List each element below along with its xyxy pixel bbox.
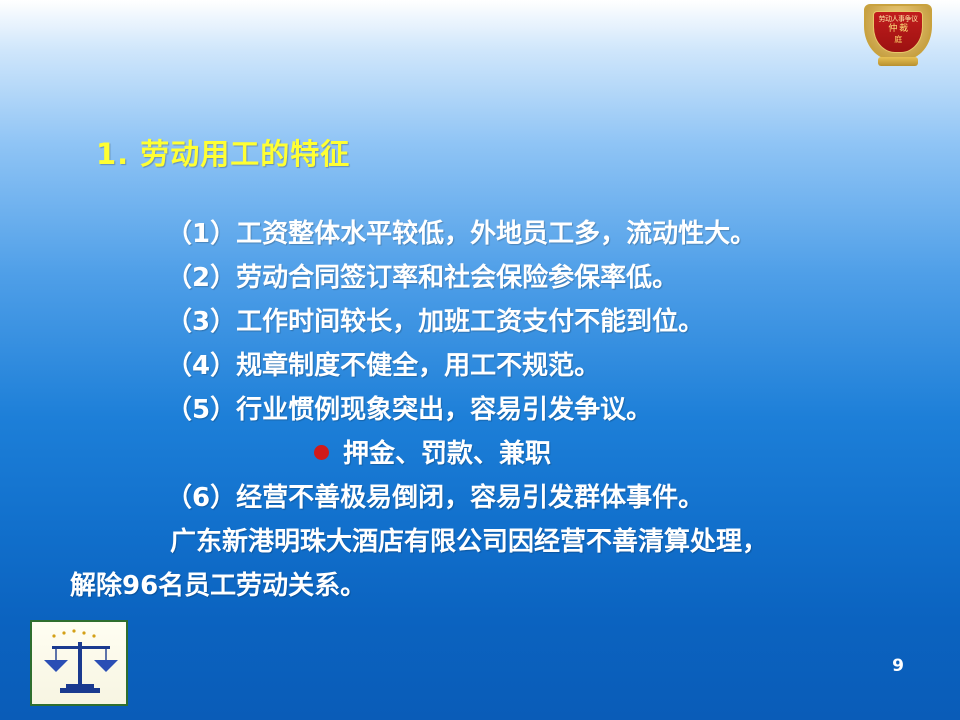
national-emblem-icon: 劳动人事争议 仲 裁 庭 [864, 4, 932, 66]
body-line-item4: （4）规章制度不健全，用工不规范。 [70, 344, 900, 388]
scales-of-justice-graphic [32, 622, 128, 706]
body-line-item6: （6）经营不善极易倒闭，容易引发群体事件。 [70, 476, 900, 520]
emblem-ribbon [878, 57, 918, 66]
body-line-item5: （5）行业惯例现象突出，容易引发争议。 [70, 388, 900, 432]
page-number: 9 [892, 656, 904, 676]
slide-body: （1）工资整体水平较低，外地员工多，流动性大。 （2）劳动合同签订率和社会保险参… [70, 212, 900, 608]
scales-of-justice-image [30, 620, 128, 706]
body-line-item3: （3）工作时间较长，加班工资支付不能到位。 [70, 300, 900, 344]
emblem-text-line3: 庭 [874, 35, 922, 44]
sub-bullet-text: 押金、罚款、兼职 [343, 439, 551, 469]
slide-canvas: 劳动人事争议 仲 裁 庭 1. 劳动用工的特征 （1）工资整体水平较低，外地员工… [0, 0, 960, 720]
body-line-example2: 解除96名员工劳动关系。 [70, 564, 900, 608]
body-line-example1: 广东新港明珠大酒店有限公司因经营不善清算处理， [70, 520, 900, 564]
emblem-text-line2: 仲 裁 [874, 25, 922, 34]
red-bullet-icon [314, 445, 329, 460]
emblem-text-line1: 劳动人事争议 [874, 15, 922, 24]
slide-title: 1. 劳动用工的特征 [96, 131, 350, 173]
body-line-sub-bullet: 押金、罚款、兼职 [70, 432, 900, 476]
body-line-item1: （1）工资整体水平较低，外地员工多，流动性大。 [70, 212, 900, 256]
body-line-item2: （2）劳动合同签订率和社会保险参保率低。 [70, 256, 900, 300]
